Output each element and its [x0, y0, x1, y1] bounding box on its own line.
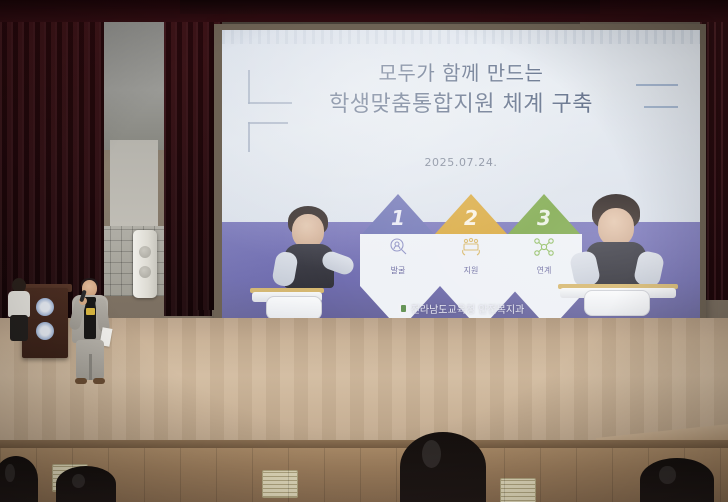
presenter: [68, 280, 112, 386]
audience-head-4: [640, 458, 714, 502]
audience-head-1: [0, 456, 38, 502]
air-conditioner-unit: [133, 230, 157, 298]
bracket-decoration-left: [248, 122, 250, 152]
hands-supporting-icon: [435, 235, 507, 264]
projection-screen: 모두가 함께 만드는 학생맞춤통합지원 체계 구축 2025.07.24. 1 …: [222, 30, 700, 326]
slide-footer-text: 전라남도교육청 안전복지과: [411, 305, 525, 316]
presenter-shoe: [93, 378, 105, 384]
presenter-name-badge: [86, 308, 95, 315]
presenter-shoe: [75, 378, 87, 384]
education-office-logo-icon: [398, 303, 409, 314]
student-boy-photo: [250, 204, 362, 316]
slide-title: 모두가 함께 만드는 학생맞춤통합지원 체계 구축: [222, 58, 700, 120]
audience-head-2: [56, 466, 116, 502]
stage-vent-grille: [500, 478, 536, 502]
step-number-1: 1: [362, 206, 434, 230]
slide-title-line-2: 학생맞춤통합지원 체계 구축: [222, 89, 700, 120]
podium-emblem-icon: [36, 298, 54, 316]
podium-emblem-icon: [36, 322, 54, 340]
slide-date: 2025.07.24.: [222, 156, 700, 169]
curtain-valance-inner: [180, 0, 600, 14]
slide-footer: 전라남도교육청 안전복지과: [222, 301, 700, 316]
audience-head-3: [400, 432, 486, 502]
bracket-decoration-left: [248, 122, 288, 124]
seated-staff: [8, 278, 30, 340]
magnifier-person-icon: [362, 235, 434, 264]
slide-title-line-1: 모두가 함께 만드는: [222, 58, 700, 89]
wall-column-panel: [104, 0, 164, 150]
stage-vent-grille: [262, 470, 298, 498]
slide-torn-edge-decoration: [222, 30, 700, 44]
student-girl-photo: [558, 194, 686, 318]
step-label-1: 발굴: [362, 265, 434, 276]
auditorium-photo: 모두가 함께 만드는 학생맞춤통합지원 체계 구축 2025.07.24. 1 …: [0, 0, 728, 502]
step-label-2: 지원: [435, 265, 507, 276]
step-number-2: 2: [435, 206, 507, 230]
